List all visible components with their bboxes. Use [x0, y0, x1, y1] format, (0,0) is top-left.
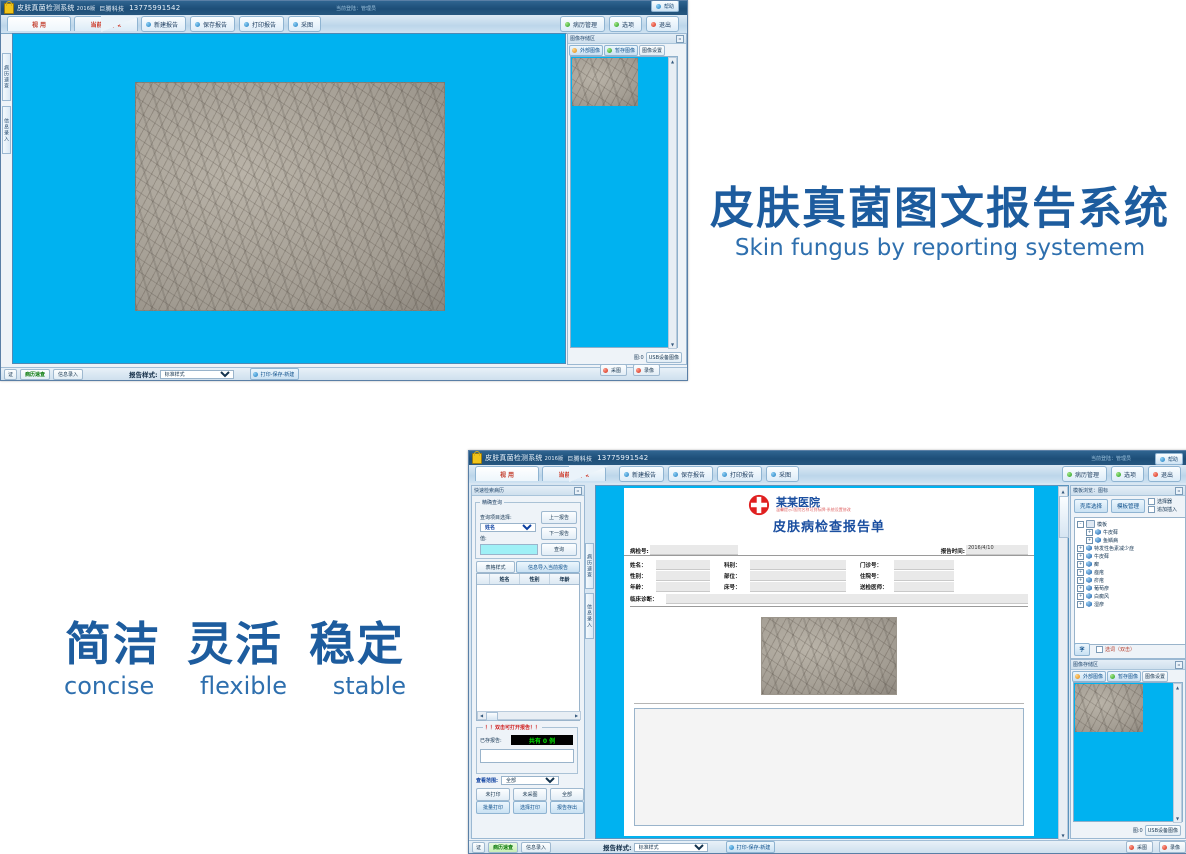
scroll-right-icon[interactable]: ▶: [573, 712, 580, 719]
record-icon: [636, 368, 641, 373]
help-button[interactable]: 帮助: [1155, 453, 1183, 465]
template-icon: [1086, 569, 1092, 575]
field-label-inpatient-no: 住院号：: [860, 572, 894, 580]
action-button-row: 批量打印 选择打印 报告存出: [476, 801, 584, 814]
new-report-icon: [146, 22, 151, 27]
library-select-button[interactable]: 壳库选择: [1074, 499, 1108, 513]
new-report-label: 新建报告: [154, 20, 178, 29]
quick-search-title-bar: 快速检索病历 ▫: [472, 486, 584, 496]
features-en-row: concise flexible stable: [60, 670, 410, 700]
filter-all-button[interactable]: 全部: [550, 788, 584, 801]
field-value-diagnosis[interactable]: [666, 594, 1028, 604]
case-management-label: 病历管理: [1075, 470, 1099, 479]
stored-report-count: 共有 0 例: [511, 735, 573, 745]
field-value-name[interactable]: [656, 560, 710, 570]
template-panel-toolbar: 壳库选择 模板管理 选择器 追加插入: [1071, 496, 1185, 513]
word-select-button[interactable]: 字: [1074, 643, 1090, 656]
capture-label: 采图: [611, 367, 621, 374]
medical-cross-icon: [748, 494, 770, 516]
print-save-new-button[interactable]: 打印-保存-新建: [726, 841, 776, 853]
tree-expander-icon[interactable]: +: [1077, 601, 1084, 608]
field-label-outpatient-no: 门诊号：: [860, 561, 894, 569]
save-report-label: 保存报告: [203, 20, 227, 29]
view-range-select[interactable]: 全部: [501, 776, 559, 785]
field-label-name: 姓名：: [630, 561, 656, 569]
side-tab-data-entry[interactable]: 信息录入: [585, 593, 594, 639]
tree-node-item[interactable]: + 癣: [1077, 560, 1183, 568]
row-selector-header: [477, 574, 490, 584]
report-time-label: 报告时间:: [941, 547, 965, 555]
tab-temp-image[interactable]: 暂存图像: [604, 45, 638, 56]
report-scrollbar[interactable]: ▲ ▼: [1058, 486, 1068, 840]
report-scroll-thumb[interactable]: [1059, 496, 1069, 538]
thumbnail-scrollbar[interactable]: ▲ ▼: [1173, 683, 1182, 823]
help-button[interactable]: 帮助: [651, 0, 679, 12]
case-no-row: 病检号: 报告时间: 2016/4/10: [624, 542, 1034, 556]
tab-temp-image-label: 暂存图像: [615, 47, 635, 54]
tree-expander-icon[interactable]: –: [1077, 521, 1084, 528]
current-user-label: 当前登陆：管理员: [1091, 455, 1131, 462]
report-header: 某某医院 温馨提示:医院名称可到标牌-系统设置修改 皮肤病检查报告单: [624, 488, 1034, 542]
query-field-select[interactable]: 姓名: [480, 523, 536, 532]
scroll-up-icon[interactable]: ▲: [1059, 487, 1067, 495]
tree-node-label: 牛皮藓: [1103, 529, 1118, 536]
double-click-hint: ！！双击可打开报告！！: [483, 724, 542, 731]
table-header-row: 姓名 性别 年龄: [477, 574, 579, 585]
ribbon-left-buttons: 新建报告 保存报告 打印报告 采图: [619, 466, 803, 482]
table-hscrollbar[interactable]: ◀ ▶: [477, 711, 581, 720]
tree-node-item[interactable]: + 白癜风: [1077, 592, 1183, 600]
patient-info-row: 性别： 部位： 住院号：: [630, 570, 1028, 581]
tree-node-child[interactable]: + 鱼鳞病: [1077, 536, 1183, 544]
diagnosis-row: 临床诊断：: [630, 593, 1028, 607]
ribbon-divider: [569, 466, 609, 482]
pin-icon[interactable]: ▫: [676, 35, 684, 43]
exit-icon: [1153, 472, 1158, 477]
findings-divider: [634, 703, 1024, 704]
case-no-label: 病检号:: [630, 547, 649, 555]
tab-external-image[interactable]: 外部图像: [569, 45, 603, 56]
current-user-label: 当前登陆：管理员: [336, 5, 376, 12]
template-panel: 模板浏览：图标 ▫ 壳库选择 模板管理 选择器 追加插入: [1070, 485, 1186, 659]
pick-word-label: 选词（双击）: [1105, 646, 1135, 653]
select-print-button[interactable]: 选择打印: [513, 801, 547, 814]
side-tab-quick-search[interactable]: 病历速查: [585, 543, 594, 589]
tree-expander-icon[interactable]: +: [1077, 577, 1084, 584]
record-button[interactable]: 录像: [633, 364, 660, 376]
options-label: 选项: [1124, 470, 1136, 479]
help-label: 帮助: [664, 3, 674, 10]
filter-unprinted-button[interactable]: 未打印: [476, 788, 510, 801]
field-label-bed-no: 床号：: [724, 583, 750, 591]
template-icon: [1095, 537, 1101, 543]
image-canvas[interactable]: [12, 33, 566, 364]
findings-textbox[interactable]: [634, 708, 1024, 826]
selector-checkbox[interactable]: [1148, 498, 1155, 505]
tab-view[interactable]: 视 用: [7, 16, 71, 31]
print-report-icon: [722, 472, 727, 477]
field-value-outpatient-no[interactable]: [894, 560, 954, 570]
tree-node-item[interactable]: + 牛皮藓: [1077, 552, 1183, 560]
import-to-report-button[interactable]: 信息导入当前报告: [516, 561, 580, 573]
window1-statusbar-right-buttons: 采图 录像: [600, 364, 660, 376]
tree-node-label: 疥疮: [1094, 577, 1104, 584]
help-icon: [656, 4, 661, 9]
marketing-headline-block: 皮肤真菌图文报告系统 Skin fungus by reporting syst…: [700, 184, 1180, 262]
template-icon: [1086, 545, 1092, 551]
field-label-site: 部位：: [724, 572, 750, 580]
tree-node-label: 癣: [1094, 561, 1099, 568]
capture-icon: [1129, 845, 1134, 850]
template-icon: [1095, 529, 1101, 535]
field-value-gender[interactable]: [656, 571, 710, 581]
search-result-table[interactable]: 姓名 性别 年龄 ◀ ▶: [476, 573, 580, 721]
patient-info-grid: 姓名： 科别： 门诊号： 性别： 部位： 住院号：: [624, 556, 1034, 607]
image-count-label: 图:0: [1133, 827, 1143, 834]
tab-temp-image[interactable]: 暂存图像: [1107, 671, 1141, 682]
tree-expander-icon[interactable]: +: [1077, 561, 1084, 568]
scroll-down-icon[interactable]: ▼: [1174, 815, 1181, 822]
template-panel-title: 模板浏览：图标: [1073, 487, 1108, 494]
capture-image-icon: [771, 472, 776, 477]
print-save-new-label: 打印-保存-新建: [261, 371, 295, 378]
template-icon: [1086, 585, 1092, 591]
filter-button-row: 未打印 未采图 全部: [476, 788, 584, 801]
temp-image-icon: [607, 48, 612, 53]
tree-expander-icon[interactable]: +: [1077, 593, 1084, 600]
tree-node-item[interactable]: + 特发性色素减少症: [1077, 544, 1183, 552]
template-tree[interactable]: – 模板 + 牛皮藓 + 鱼鳞病 + 特发性色素减少症: [1074, 517, 1186, 645]
image-storage-title-bar: 图像存储区 ▫: [1071, 660, 1185, 670]
field-value-age[interactable]: [656, 582, 710, 592]
tree-expander-icon[interactable]: +: [1077, 545, 1084, 552]
capture-icon: [603, 368, 608, 373]
scroll-down-icon[interactable]: ▼: [1059, 831, 1067, 839]
report-page[interactable]: 某某医院 温馨提示:医院名称可到标牌-系统设置修改 皮肤病检查报告单 病检号: …: [624, 488, 1034, 836]
feature-en-flexible: flexible: [200, 672, 287, 700]
capture-image-label: 采图: [301, 20, 313, 29]
status-bar: 证 病历速查 信息录入 报告样式: 标准样式 打印-保存-新建: [1, 367, 688, 380]
app-phone: 13775991542: [129, 4, 180, 12]
print-report-button[interactable]: 打印报告: [717, 466, 762, 482]
image-storage-panel: 图像存储区 ▫ 外部图像 暂存图像 图像设置 ▲ ▼: [1070, 659, 1186, 839]
status-tab-quick-search[interactable]: 病历速查: [20, 369, 50, 380]
image-storage-title: 图像存储区: [570, 35, 595, 42]
status-bar: 证 病历速查 信息录入 报告样式: 标准样式 打印-保存-新建 采图 录像: [469, 840, 1186, 853]
selector-checkbox-label: 选择器: [1157, 498, 1172, 505]
report-specimen-image[interactable]: [761, 617, 897, 695]
tree-node-label: 鱼鳞病: [1103, 537, 1118, 544]
usb-image-button[interactable]: USB设备图像: [1145, 825, 1181, 836]
field-label-referring-doctor: 送检医师：: [860, 583, 894, 591]
new-report-label: 新建报告: [632, 470, 656, 479]
exit-button[interactable]: 退出: [1148, 466, 1181, 482]
template-checkbox-group: 选择器 追加插入: [1148, 498, 1177, 513]
app-title: 皮肤真菌检测系统: [485, 453, 543, 463]
report-style-select[interactable]: 标准样式: [160, 370, 234, 379]
tree-node-label: 湿疹: [1094, 601, 1104, 608]
report-style-select[interactable]: 标准样式: [634, 843, 708, 852]
template-icon: [1086, 553, 1092, 559]
exit-label: 退出: [659, 20, 671, 29]
image-storage-title: 图像存储区: [1073, 661, 1098, 668]
tab-image-settings[interactable]: 图像设置: [639, 45, 665, 56]
ribbon-right-buttons: 病历管理 选项 退出: [560, 16, 679, 32]
pick-word-checkbox[interactable]: [1096, 646, 1103, 653]
tab-external-image-label: 外部图像: [580, 47, 600, 54]
stored-report-label: 已存报告:: [480, 737, 502, 744]
marketing-headline-cn: 皮肤真菌图文报告系统: [700, 184, 1180, 234]
marketing-features-block: 简洁 灵活 稳定 concise flexible stable: [60, 618, 410, 700]
report-doc-title: 皮肤病检查报告单: [624, 516, 1034, 535]
save-report-button[interactable]: 保存报告: [190, 16, 235, 32]
query-button[interactable]: 查询: [541, 543, 577, 556]
ribbon-toolbar: 视 用 当前报告 ≮ 新建报告 保存报告 打印报告 采图: [1, 15, 687, 34]
prev-report-button[interactable]: 上一报告: [541, 511, 577, 524]
case-management-button[interactable]: 病历管理: [1062, 466, 1107, 482]
window2-titlebar: 皮肤真菌检测系统 2016版 巨腾科技 13775991542 当前登陆：管理员…: [469, 451, 1186, 465]
field-label-department: 科别：: [724, 561, 750, 569]
image-storage-tabs: 外部图像 暂存图像 图像设置: [568, 44, 686, 56]
table-hscroll-thumb[interactable]: [486, 712, 498, 721]
image-storage-footer: 图:0 USB设备图像: [570, 352, 682, 363]
stored-report-field[interactable]: [480, 749, 574, 763]
field-value-department[interactable]: [750, 560, 846, 570]
table-style-button[interactable]: 表格样式: [476, 561, 515, 573]
ribbon-left-buttons: 新建报告 保存报告 打印报告 采图: [141, 16, 325, 32]
tree-node-label: 痤疮: [1094, 569, 1104, 576]
save-report-label: 保存报告: [681, 470, 705, 479]
pin-icon[interactable]: ▫: [1175, 487, 1183, 495]
feature-cn-stable: 稳定: [309, 618, 405, 670]
lock-icon: [4, 3, 14, 14]
tree-expander-icon[interactable]: +: [1077, 569, 1084, 576]
feature-en-concise: concise: [64, 672, 154, 700]
scroll-left-icon[interactable]: ◀: [478, 712, 485, 719]
record-button[interactable]: 录像: [1159, 841, 1186, 853]
exit-label: 退出: [1161, 470, 1173, 479]
app-phone: 13775991542: [597, 454, 648, 462]
table-header-name: 姓名: [490, 574, 520, 584]
print-save-new-label: 打印-保存-新建: [737, 844, 771, 851]
table-header-gender: 性别: [520, 574, 550, 584]
tab-external-image[interactable]: 外部图像: [1072, 671, 1106, 682]
print-report-label: 打印报告: [252, 20, 276, 29]
tree-expander-icon[interactable]: +: [1077, 553, 1084, 560]
field-value-bed-no[interactable]: [750, 582, 846, 592]
stored-report-group: ！！双击可打开报告！！ 已存报告: 共有 0 例: [476, 724, 578, 774]
tree-node-root[interactable]: – 模板: [1077, 520, 1183, 528]
status-tab-data-entry[interactable]: 信息录入: [521, 842, 551, 853]
exit-button[interactable]: 退出: [646, 16, 679, 32]
filter-no-image-button[interactable]: 未采图: [513, 788, 547, 801]
print-report-label: 打印报告: [730, 470, 754, 479]
side-tab-data-entry[interactable]: 信息录入: [2, 106, 11, 154]
new-report-button[interactable]: 新建报告: [141, 16, 186, 32]
tree-expander-icon[interactable]: +: [1086, 537, 1093, 544]
quick-search-panel: 快速检索病历 ▫ 精确查询 查询项目选择: 姓名 值: 上一报告 下一报告 查询…: [471, 485, 585, 839]
tab-image-settings[interactable]: 图像设置: [1142, 671, 1168, 682]
field-label-age: 年龄：: [630, 583, 656, 591]
window-body: 病历速查 信息录入 图像存储区 ▫ 外部图像 暂存图像 图像设置: [1, 33, 687, 366]
field-label-diagnosis: 临床诊断：: [630, 595, 666, 603]
query-value-label: 值:: [480, 535, 487, 542]
tab-view[interactable]: 视 用: [475, 466, 539, 481]
save-report-icon: [673, 472, 678, 477]
new-report-button[interactable]: 新建报告: [619, 466, 664, 482]
app-version: 2016版: [77, 5, 96, 12]
print-save-new-button[interactable]: 打印-保存-新建: [250, 368, 300, 380]
pin-icon[interactable]: ▫: [574, 487, 582, 495]
print-save-new-icon: [253, 372, 258, 377]
template-panel-title-bar: 模板浏览：图标 ▫: [1071, 486, 1185, 496]
main-window-bottom: 皮肤真菌检测系统 2016版 巨腾科技 13775991542 当前登陆：管理员…: [468, 450, 1186, 854]
external-image-icon: [1075, 674, 1080, 679]
status-tab-quick-search[interactable]: 病历速查: [488, 842, 518, 853]
status-left-tag[interactable]: 证: [4, 369, 17, 380]
usb-image-button[interactable]: USB设备图像: [646, 352, 682, 363]
record-label: 录像: [1170, 844, 1180, 851]
tree-expander-icon[interactable]: +: [1086, 529, 1093, 536]
template-manage-button[interactable]: 模板管理: [1111, 499, 1145, 513]
save-report-button[interactable]: 保存报告: [668, 466, 713, 482]
case-no-field[interactable]: [650, 545, 738, 555]
tree-node-child[interactable]: + 牛皮藓: [1077, 528, 1183, 536]
scroll-down-icon[interactable]: ▼: [669, 341, 676, 348]
exact-query-legend: 精确查询: [480, 499, 504, 506]
side-tab-quick-search[interactable]: 病历速查: [2, 53, 11, 101]
help-label: 帮助: [1168, 456, 1178, 463]
temp-image-icon: [1110, 674, 1115, 679]
exact-query-group: 精确查询 查询项目选择: 姓名 值: 上一报告 下一报告 查询: [475, 499, 581, 559]
pin-icon[interactable]: ▫: [1175, 661, 1183, 669]
query-field-label: 查询项目选择:: [480, 514, 512, 521]
tree-node-label: 特发性色素减少症: [1094, 545, 1134, 552]
table-header-age: 年龄: [550, 574, 579, 584]
case-management-button[interactable]: 病历管理: [560, 16, 605, 32]
window-titlebar: 皮肤真菌检测系统 2016版 巨腾科技 13775991542 当前登陆：管理员: [1, 1, 687, 15]
record-icon: [1162, 845, 1167, 850]
scroll-up-icon[interactable]: ▲: [1174, 684, 1181, 691]
field-value-site[interactable]: [750, 571, 846, 581]
status-tab-data-entry[interactable]: 信息录入: [53, 369, 83, 380]
tree-node-item[interactable]: + 湿疹: [1077, 600, 1183, 608]
save-report-icon: [195, 22, 200, 27]
append-checkbox[interactable]: [1148, 506, 1155, 513]
scroll-up-icon[interactable]: ▲: [669, 58, 676, 65]
report-workspace: 某某医院 温馨提示:医院名称可到标牌-系统设置修改 皮肤病检查报告单 病检号: …: [595, 485, 1069, 839]
thumbnail-list[interactable]: ▲ ▼: [1073, 682, 1183, 822]
tree-node-label: 模板: [1097, 521, 1107, 528]
view-range-row: 查看范围: 全部: [476, 776, 559, 785]
tree-node-label: 牛皮藓: [1094, 553, 1109, 560]
tree-node-item[interactable]: + 葡萄疹: [1077, 584, 1183, 592]
capture-image-icon: [293, 22, 298, 27]
capture-image-label: 采图: [779, 470, 791, 479]
template-icon: [1086, 577, 1092, 583]
capture-button[interactable]: 采图: [1126, 841, 1153, 853]
field-value-inpatient-no[interactable]: [894, 571, 954, 581]
batch-print-button[interactable]: 批量打印: [476, 801, 510, 814]
image-storage-tabs: 外部图像 暂存图像 图像设置: [1071, 670, 1185, 682]
append-checkbox-row[interactable]: 追加插入: [1148, 506, 1177, 513]
print-save-new-icon: [729, 845, 734, 850]
capture-button[interactable]: 采图: [600, 364, 627, 376]
features-cn-row: 简洁 灵活 稳定: [60, 618, 410, 670]
capture-image-button[interactable]: 采图: [766, 466, 799, 482]
lock-icon: [472, 453, 482, 464]
thumbnail-scrollbar[interactable]: ▲ ▼: [668, 57, 677, 349]
image-storage-footer: 图:0 USB设备图像: [1073, 825, 1181, 836]
app-company: 巨腾科技: [567, 454, 592, 463]
ribbon-toolbar: 视 用 当前报告 ≮ 新建报告 保存报告 打印报告 采图: [469, 465, 1186, 484]
thumbnail-image[interactable]: [1075, 684, 1143, 732]
case-management-label: 病历管理: [573, 20, 597, 29]
feature-en-stable: stable: [333, 672, 406, 700]
left-side-tabs: 病历速查 信息录入: [2, 53, 11, 154]
tree-node-item[interactable]: + 疥疮: [1077, 576, 1183, 584]
ribbon-right-buttons: 病历管理 选项 退出: [1062, 466, 1181, 482]
external-image-icon: [572, 48, 577, 53]
report-time-value[interactable]: 2016/4/10: [966, 545, 1028, 555]
feature-cn-concise: 简洁: [65, 618, 161, 670]
export-report-button[interactable]: 报告存出: [550, 801, 584, 814]
options-button[interactable]: 选项: [609, 16, 642, 32]
thumbnail-image[interactable]: [572, 58, 638, 106]
case-management-icon: [565, 22, 570, 27]
specimen-image[interactable]: [135, 82, 445, 311]
exit-icon: [651, 22, 656, 27]
print-report-button[interactable]: 打印报告: [239, 16, 284, 32]
view-range-label: 查看范围:: [476, 777, 498, 784]
ribbon-divider: [101, 16, 141, 32]
tree-node-item[interactable]: + 痤疮: [1077, 568, 1183, 576]
hospital-note: 温馨提示:医院名称可到标牌-系统设置修改: [776, 507, 851, 513]
field-value-referring-doctor[interactable]: [894, 582, 954, 592]
selector-checkbox-row[interactable]: 选择器: [1148, 498, 1177, 505]
marketing-headline-en: Skin fungus by reporting systemem: [700, 234, 1180, 262]
app-company: 巨腾科技: [99, 4, 124, 13]
capture-label: 采图: [1137, 844, 1147, 851]
append-checkbox-label: 追加插入: [1157, 506, 1177, 513]
report-image-area: [624, 607, 1034, 695]
report-style-label: 报告样式:: [129, 369, 158, 379]
image-count-label: 图:0: [634, 354, 644, 361]
options-button[interactable]: 选项: [1111, 466, 1144, 482]
record-label: 录像: [644, 367, 654, 374]
statusbar-right-buttons: 采图 录像: [1126, 841, 1186, 853]
options-label: 选项: [622, 20, 634, 29]
tab-external-image-label: 外部图像: [1083, 673, 1103, 680]
template-icon: [1086, 561, 1092, 567]
app-version: 2016版: [545, 455, 564, 462]
tree-node-label: 葡萄疹: [1094, 585, 1109, 592]
help-icon: [1160, 457, 1165, 462]
pick-word-checkbox-row[interactable]: 选词（双击）: [1096, 646, 1135, 653]
quick-search-title: 快速检索病历: [474, 487, 504, 494]
query-value-input[interactable]: [480, 544, 538, 555]
tree-expander-icon[interactable]: +: [1077, 585, 1084, 592]
feature-cn-flexible: 灵活: [187, 618, 283, 670]
options-icon: [1116, 472, 1121, 477]
thumbnail-list[interactable]: ▲ ▼: [570, 56, 678, 348]
report-style-label: 报告样式:: [603, 842, 632, 852]
status-left-tag[interactable]: 证: [472, 842, 485, 853]
next-report-button[interactable]: 下一报告: [541, 527, 577, 540]
middle-side-tabs: 病历速查 信息录入: [585, 543, 594, 639]
patient-info-row: 姓名： 科别： 门诊号：: [630, 559, 1028, 570]
capture-image-button[interactable]: 采图: [288, 16, 321, 32]
